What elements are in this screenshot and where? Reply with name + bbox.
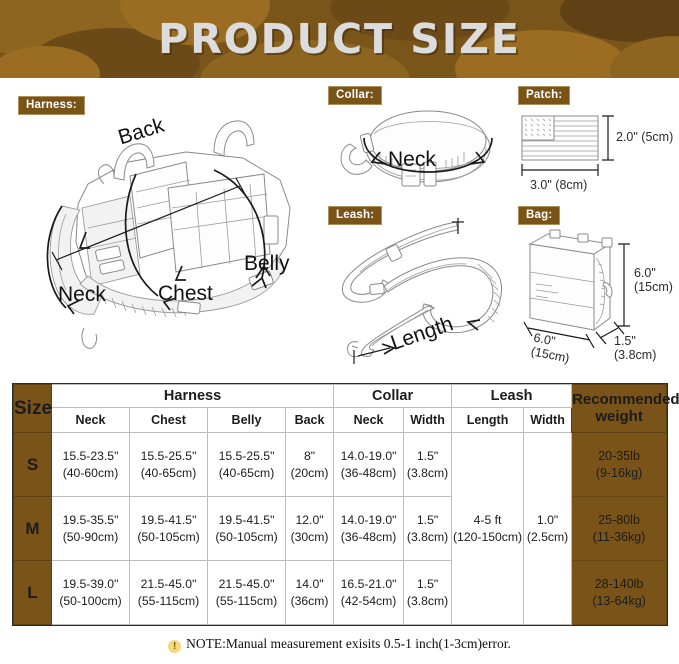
table-subheader-collar-neck: Neck [334, 408, 404, 433]
cell-harness-belly: 15.5-25.5" (40-65cm) [208, 433, 286, 497]
cell-harness-neck: 15.5-23.5" (40-60cm) [52, 433, 130, 497]
bag-depth-dimension: 1.5" (3.8cm) [614, 334, 656, 363]
cell-recommended-weight: 28-140lb (13-64kg) [572, 561, 667, 625]
cell-harness-chest: 21.5-45.0" (55-115cm) [130, 561, 208, 625]
harness-callout-chest: Chest [158, 282, 213, 306]
row-size-label: L [14, 561, 52, 625]
table-subheader-row: Neck Chest Belly Back Neck Width Length … [14, 408, 667, 433]
page-title: PRODUCT SIZE [0, 0, 679, 78]
bag-diagram: Bag: [518, 206, 676, 366]
table-group-collar: Collar [334, 385, 452, 408]
cell-harness-belly: 21.5-45.0" (55-115cm) [208, 561, 286, 625]
table-subheader-harness-chest: Chest [130, 408, 208, 433]
cell-harness-neck: 19.5-35.5" (50-90cm) [52, 497, 130, 561]
table-subheader-leash-length: Length [452, 408, 524, 433]
cell-harness-back: 12.0" (30cm) [286, 497, 334, 561]
table-header-size: Size [14, 385, 52, 433]
size-table-container: Size Harness Collar Leash Recommended we… [12, 383, 668, 626]
warning-icon: ! [168, 640, 181, 653]
leash-label-chip: Leash: [328, 206, 382, 225]
table-row: S 15.5-23.5" (40-60cm) 15.5-25.5" (40-65… [14, 433, 667, 497]
table-header-recommended-weight: Recommended weight [572, 385, 667, 433]
table-group-header-row: Size Harness Collar Leash Recommended we… [14, 385, 667, 408]
harness-callout-neck: Neck [58, 283, 106, 307]
cell-harness-belly: 19.5-41.5" (50-105cm) [208, 497, 286, 561]
cell-harness-back: 8" (20cm) [286, 433, 334, 497]
cell-collar-neck: 14.0-19.0" (36-48cm) [334, 433, 404, 497]
note-row: !NOTE:Manual measurement exisits 0.5-1 i… [0, 636, 679, 653]
table-subheader-harness-belly: Belly [208, 408, 286, 433]
table-subheader-leash-width: Width [524, 408, 572, 433]
table-subheader-harness-back: Back [286, 408, 334, 433]
table-subheader-collar-width: Width [404, 408, 452, 433]
cell-harness-neck: 19.5-39.0" (50-100cm) [52, 561, 130, 625]
cell-recommended-weight: 20-35lb (9-16kg) [572, 433, 667, 497]
header-banner: PRODUCT SIZE [0, 0, 679, 78]
cell-harness-back: 14.0" (36cm) [286, 561, 334, 625]
collar-diagram: Collar: Neck [328, 86, 518, 201]
bag-height-dimension: 6.0" (15cm) [634, 266, 673, 295]
cell-recommended-weight: 25-80lb (11-36kg) [572, 497, 667, 561]
patch-label-chip: Patch: [518, 86, 570, 105]
cell-leash-length: 4-5 ft (120-150cm) [452, 433, 524, 625]
patch-width-dimension: 3.0" (8cm) [530, 178, 587, 192]
size-table: Size Harness Collar Leash Recommended we… [13, 384, 667, 625]
cell-collar-neck: 14.0-19.0" (36-48cm) [334, 497, 404, 561]
harness-illustration [18, 96, 318, 368]
collar-callout-neck: Neck [388, 148, 436, 172]
patch-diagram: Patch: 2.0" (5cm) 3.0" (8cm) [518, 86, 676, 201]
leash-diagram: Leash: Le [328, 206, 518, 366]
diagram-area: Harness: [0, 78, 679, 372]
table-group-leash: Leash [452, 385, 572, 408]
cell-collar-width: 1.5" (3.8cm) [404, 433, 452, 497]
note-text: NOTE:Manual measurement exisits 0.5-1 in… [186, 636, 511, 651]
cell-collar-width: 1.5" (3.8cm) [404, 561, 452, 625]
harness-label-chip: Harness: [18, 96, 85, 115]
row-size-label: M [14, 497, 52, 561]
table-subheader-harness-neck: Neck [52, 408, 130, 433]
harness-callout-belly: Belly [244, 252, 290, 276]
cell-harness-chest: 19.5-41.5" (50-105cm) [130, 497, 208, 561]
harness-diagram: Harness: [18, 96, 318, 368]
cell-leash-width: 1.0" (2.5cm) [524, 433, 572, 625]
collar-label-chip: Collar: [328, 86, 382, 105]
cell-collar-width: 1.5" (3.8cm) [404, 497, 452, 561]
bag-label-chip: Bag: [518, 206, 560, 225]
table-group-harness: Harness [52, 385, 334, 408]
cell-collar-neck: 16.5-21.0" (42-54cm) [334, 561, 404, 625]
patch-height-dimension: 2.0" (5cm) [616, 130, 673, 144]
row-size-label: S [14, 433, 52, 497]
cell-harness-chest: 15.5-25.5" (40-65cm) [130, 433, 208, 497]
